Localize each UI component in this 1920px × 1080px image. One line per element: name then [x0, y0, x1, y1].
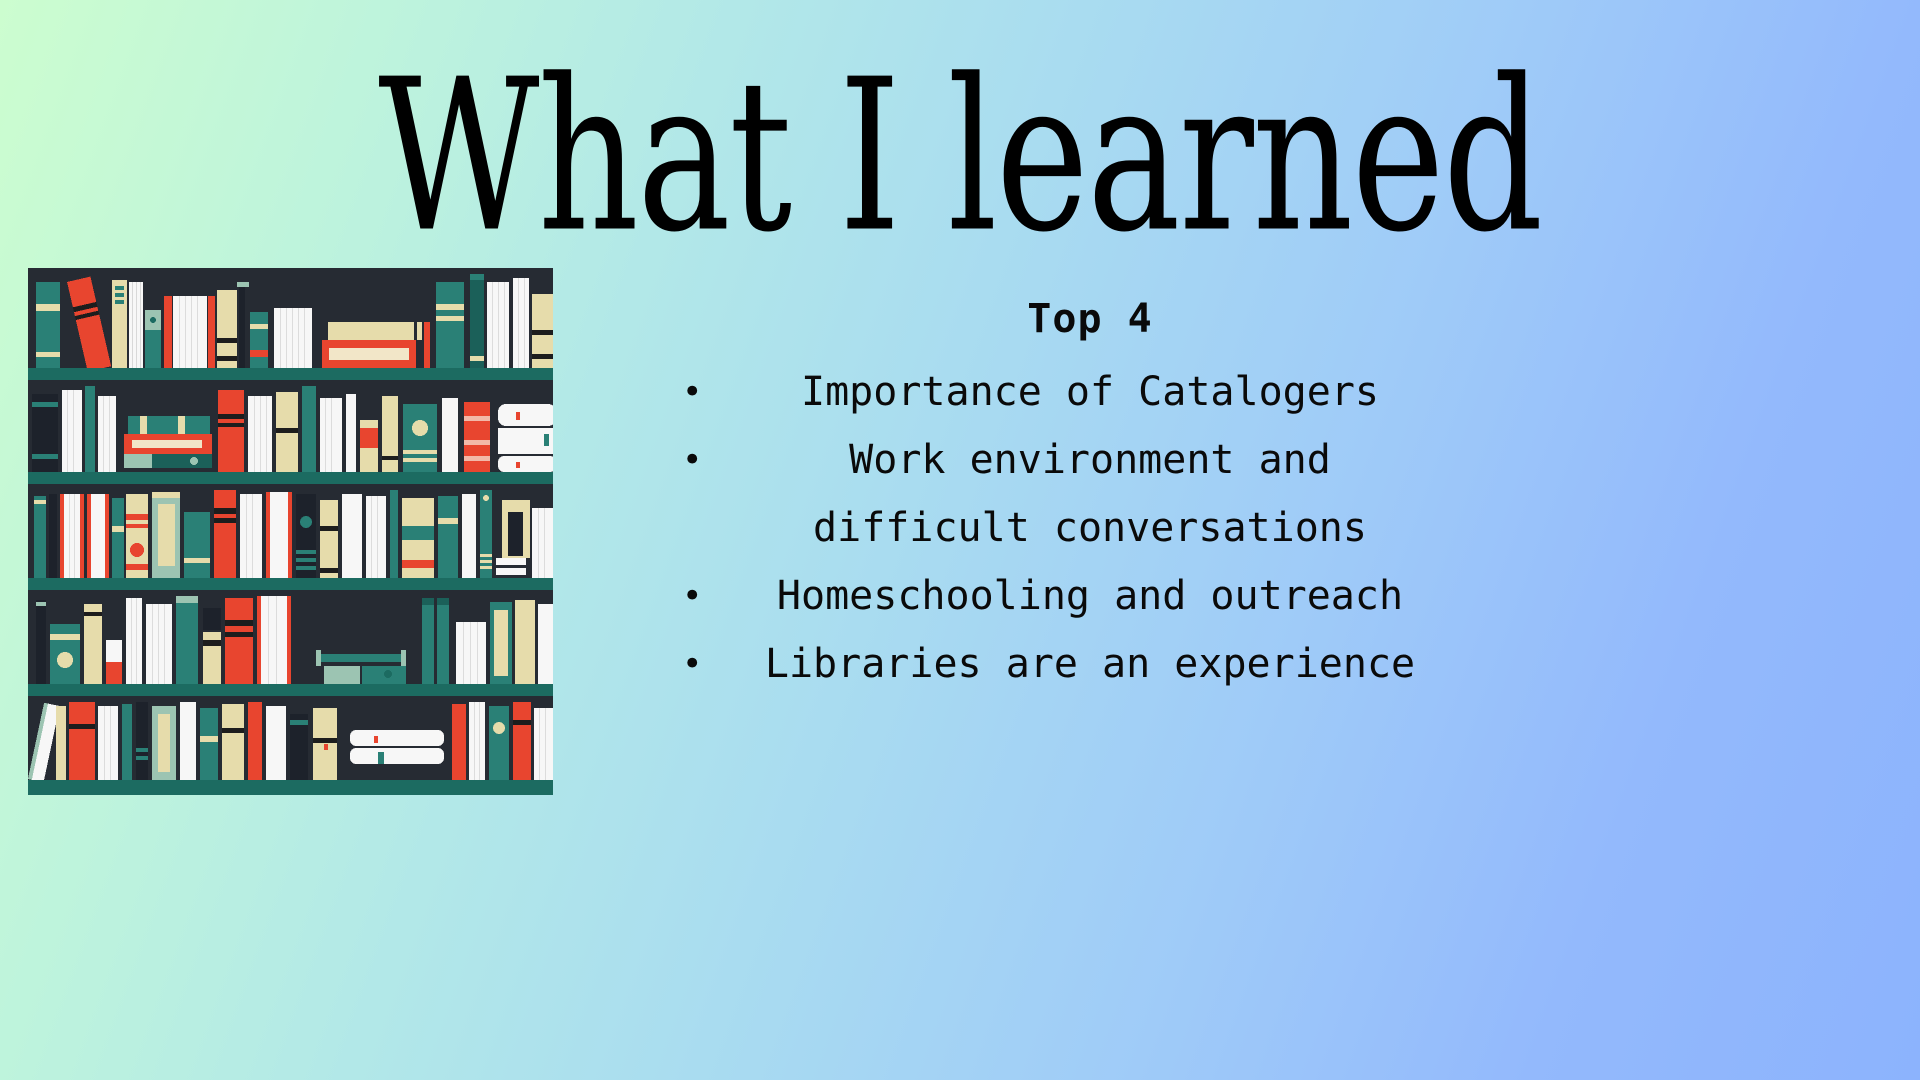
bullet-glyph: • — [682, 426, 702, 494]
list-item: • Homeschooling and outreach — [640, 562, 1540, 630]
content-block: Top 4 • Importance of Catalogers • Work … — [640, 296, 1540, 698]
shelf-board — [28, 368, 553, 380]
list-item: • Importance of Catalogers — [640, 358, 1540, 426]
shelf-board — [28, 684, 553, 696]
bullet-glyph: • — [682, 562, 702, 630]
list-item-label: Libraries are an experience — [765, 630, 1415, 698]
bullet-glyph: • — [682, 630, 702, 698]
shelf-board — [28, 472, 553, 484]
shelf-5-books — [28, 702, 553, 782]
list-item-label: Homeschooling and outreach — [777, 562, 1403, 630]
bullet-list: • Importance of Catalogers • Work enviro… — [640, 358, 1540, 698]
bookshelf-illustration — [28, 268, 553, 795]
content-heading: Top 4 — [640, 296, 1540, 342]
shelf-board — [28, 780, 553, 795]
shelf-board — [28, 578, 553, 590]
page-title: What I learned — [192, 52, 1728, 262]
list-item: • Work environment and difficult convers… — [640, 426, 1540, 562]
list-item-label: Work environment and — [849, 426, 1331, 494]
slide-canvas: What I learned — [0, 0, 1920, 1080]
list-item: • Libraries are an experience — [640, 630, 1540, 698]
list-item-continuation: difficult conversations — [640, 494, 1540, 562]
list-item-label: Importance of Catalogers — [801, 358, 1379, 426]
bullet-glyph: • — [682, 358, 702, 426]
